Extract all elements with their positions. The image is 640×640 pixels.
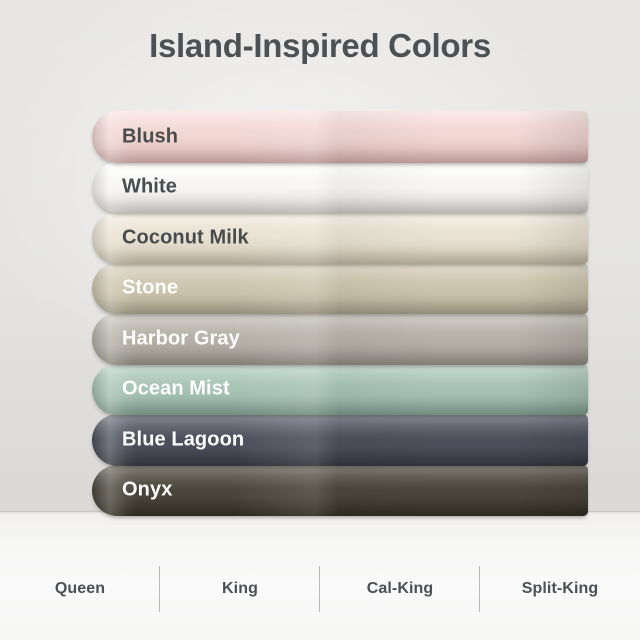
size-options-bar: QueenKingCal-KingSplit-King [0, 556, 640, 622]
sheet-color-label: Blue Lagoon [122, 428, 244, 451]
sheet-seam [231, 263, 439, 315]
product-color-chart: Island-Inspired Colors BlushWhiteCoconut… [0, 0, 640, 640]
sheet-seam [231, 313, 439, 365]
size-option-queen[interactable]: Queen [0, 580, 160, 598]
sheet-swatch-onyx[interactable]: Onyx [92, 465, 588, 517]
sheet-color-label: Stone [122, 277, 178, 300]
sheet-color-label: Ocean Mist [122, 378, 230, 401]
sheet-right-shadow [518, 162, 588, 214]
sheet-seam [231, 111, 439, 163]
sheet-swatch-stone[interactable]: Stone [92, 263, 588, 315]
size-option-cal-king[interactable]: Cal-King [320, 580, 480, 598]
sheet-seam [231, 414, 439, 466]
sheet-seam [231, 162, 439, 214]
sheet-swatch-white[interactable]: White [92, 162, 588, 214]
sheet-swatch-blue-lagoon[interactable]: Blue Lagoon [92, 414, 588, 466]
sheet-seam [231, 212, 439, 264]
sheet-right-shadow [518, 364, 588, 416]
sheet-swatch-coconut-milk[interactable]: Coconut Milk [92, 212, 588, 264]
size-option-split-king[interactable]: Split-King [480, 580, 640, 598]
sheet-color-label: White [122, 176, 177, 199]
sheet-color-label: Harbor Gray [122, 327, 240, 350]
sheet-seam [231, 364, 439, 416]
sheet-right-shadow [518, 465, 588, 517]
sheet-right-shadow [518, 111, 588, 163]
sheet-color-label: Blush [122, 125, 178, 148]
sheet-color-label: Onyx [122, 479, 172, 502]
sheet-right-shadow [518, 313, 588, 365]
size-option-king[interactable]: King [160, 580, 320, 598]
sheet-stack: BlushWhiteCoconut MilkStoneHarbor GrayOc… [92, 111, 588, 515]
sheet-swatch-blush[interactable]: Blush [92, 111, 588, 163]
sheet-right-shadow [518, 263, 588, 315]
page-title: Island-Inspired Colors [0, 27, 640, 65]
sheet-swatch-harbor-gray[interactable]: Harbor Gray [92, 313, 588, 365]
sheet-right-shadow [518, 212, 588, 264]
sheet-swatch-ocean-mist[interactable]: Ocean Mist [92, 364, 588, 416]
sheet-color-label: Coconut Milk [122, 226, 249, 249]
sheet-right-shadow [518, 414, 588, 466]
sheet-seam [231, 465, 439, 517]
